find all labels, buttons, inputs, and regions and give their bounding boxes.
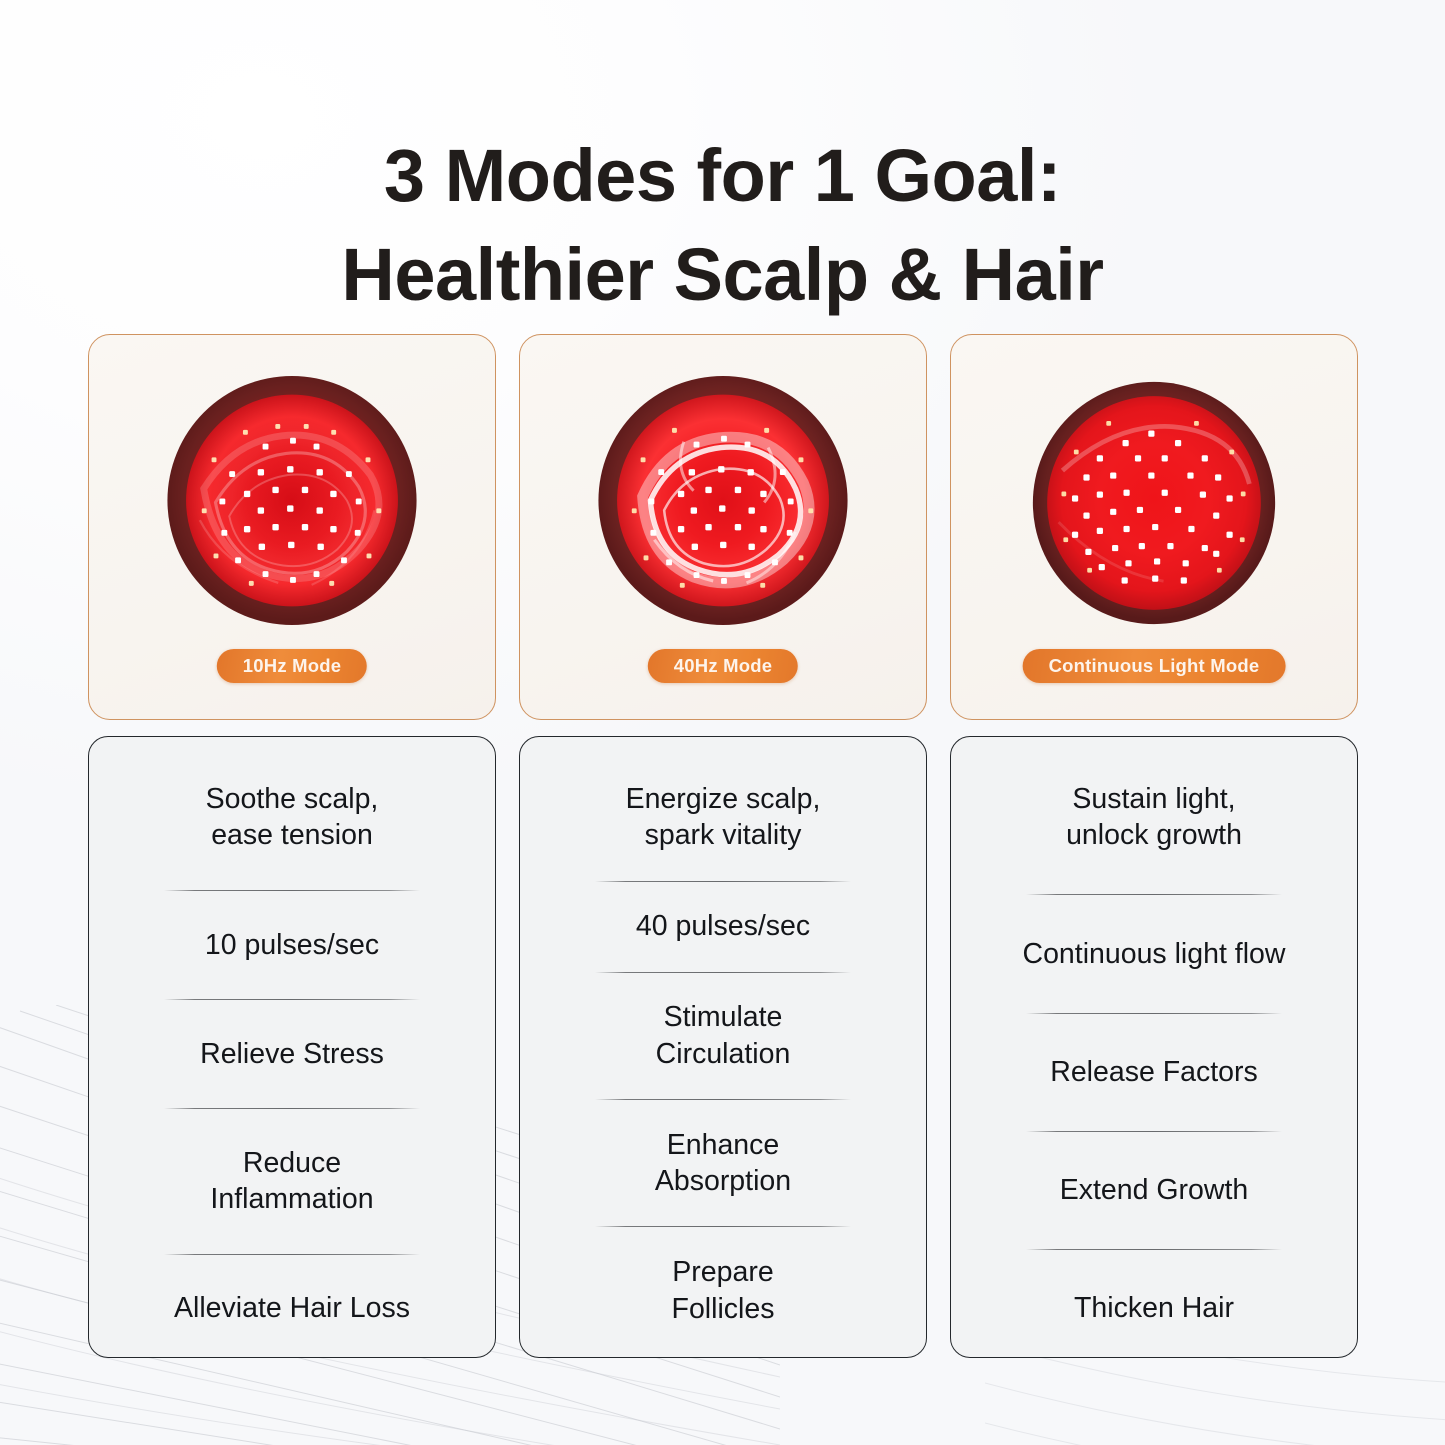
mode-feature-row: Soothe scalp, ease tension 10 pulses/sec…: [88, 736, 1358, 1358]
feature-item: Thicken Hair: [981, 1290, 1327, 1326]
feature-divider: [1026, 1131, 1282, 1132]
feature-divider: [164, 1108, 420, 1109]
feature-divider: [1026, 1013, 1282, 1014]
feature-divider: [164, 890, 420, 891]
feature-divider: [595, 1099, 851, 1100]
feature-item: Sustain light, unlock growth: [981, 781, 1327, 854]
feature-divider: [595, 1226, 851, 1227]
led-panel-10hz-icon: [165, 373, 420, 628]
mode-badge-40hz[interactable]: 40Hz Mode: [648, 649, 798, 683]
feature-item: Extend Growth: [981, 1172, 1327, 1208]
feature-divider: [164, 999, 420, 1000]
feature-item: 10 pulses/sec: [119, 927, 465, 963]
promo-page: 3 Modes for 1 Goal: Healthier Scalp & Ha…: [0, 0, 1445, 1445]
feature-card-continuous: Sustain light, unlock growth Continuous …: [950, 736, 1358, 1358]
device-card-10hz: 10Hz Mode: [88, 334, 496, 720]
device-card-40hz: 40Hz Mode: [519, 334, 927, 720]
page-title-line-2: Healthier Scalp & Hair: [0, 225, 1445, 324]
feature-divider: [595, 881, 851, 882]
feature-item: Continuous light flow: [981, 936, 1327, 972]
feature-item: Energize scalp, spark vitality: [550, 781, 896, 854]
feature-item: Alleviate Hair Loss: [119, 1290, 465, 1326]
feature-card-40hz: Energize scalp, spark vitality 40 pulses…: [519, 736, 927, 1358]
feature-item: Soothe scalp, ease tension: [119, 781, 465, 854]
page-title: 3 Modes for 1 Goal: Healthier Scalp & Ha…: [0, 126, 1445, 324]
feature-divider: [164, 1254, 420, 1255]
feature-divider: [1026, 894, 1282, 895]
led-panel-40hz-icon: [596, 373, 851, 628]
mode-device-row: 10Hz Mode: [88, 334, 1358, 720]
page-title-line-1: 3 Modes for 1 Goal:: [384, 134, 1061, 217]
feature-card-10hz: Soothe scalp, ease tension 10 pulses/sec…: [88, 736, 496, 1358]
feature-item: Relieve Stress: [119, 1036, 465, 1072]
feature-item: Reduce Inflammation: [119, 1145, 465, 1218]
feature-divider: [595, 972, 851, 973]
feature-divider: [1026, 1249, 1282, 1250]
led-panel-continuous-icon: [1030, 379, 1278, 627]
mode-badge-10hz[interactable]: 10Hz Mode: [217, 649, 367, 683]
feature-item: 40 pulses/sec: [550, 908, 896, 944]
mode-badge-continuous[interactable]: Continuous Light Mode: [1023, 649, 1286, 683]
feature-item: Prepare Follicles: [550, 1254, 896, 1327]
feature-item: Stimulate Circulation: [550, 999, 896, 1072]
device-card-continuous: Continuous Light Mode: [950, 334, 1358, 720]
feature-item: Release Factors: [981, 1054, 1327, 1090]
feature-item: Enhance Absorption: [550, 1127, 896, 1200]
